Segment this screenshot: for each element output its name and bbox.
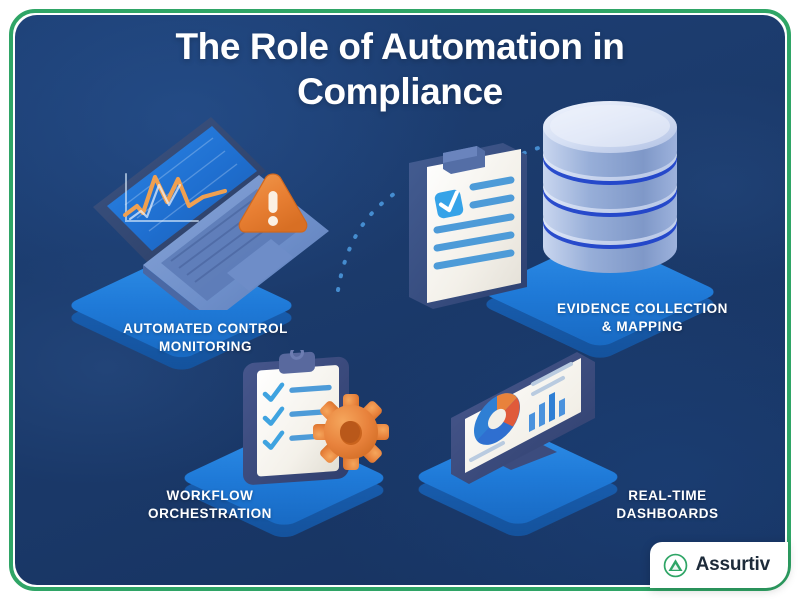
- monitor-icon: [425, 340, 640, 490]
- scene-real-time-dashboards: [425, 340, 640, 490]
- label-real-time-dashboards: REAL-TIME DASHBOARDS: [560, 487, 775, 524]
- infographic-root: The Role of Automation in Compliance: [0, 0, 800, 600]
- page-title: The Role of Automation in Compliance: [0, 24, 800, 114]
- label-evidence-collection-mapping: EVIDENCE COLLECTION & MAPPING: [510, 300, 775, 337]
- database-stack-icon: [525, 95, 715, 285]
- gear-icon: [312, 393, 390, 471]
- clipboard-checklist-icon: [403, 137, 533, 322]
- logo-badge[interactable]: Assurtiv: [650, 542, 788, 588]
- logo-text: Assurtiv: [696, 554, 770, 576]
- label-automated-control-monitoring: AUTOMATED CONTROL MONITORING: [78, 320, 333, 357]
- laptop-icon: [85, 105, 360, 310]
- warning-triangle-icon: [233, 165, 313, 245]
- title-line-2: Compliance: [0, 69, 800, 114]
- label-workflow-orchestration: WORKFLOW ORCHESTRATION: [70, 487, 350, 524]
- mountain-triangle-circle-icon: [663, 553, 688, 578]
- scene-workflow-orchestration: [195, 345, 410, 490]
- title-line-1: The Role of Automation in: [0, 24, 800, 69]
- scene-evidence-collection-mapping: [395, 95, 725, 300]
- scene-automated-control-monitoring: [85, 105, 360, 310]
